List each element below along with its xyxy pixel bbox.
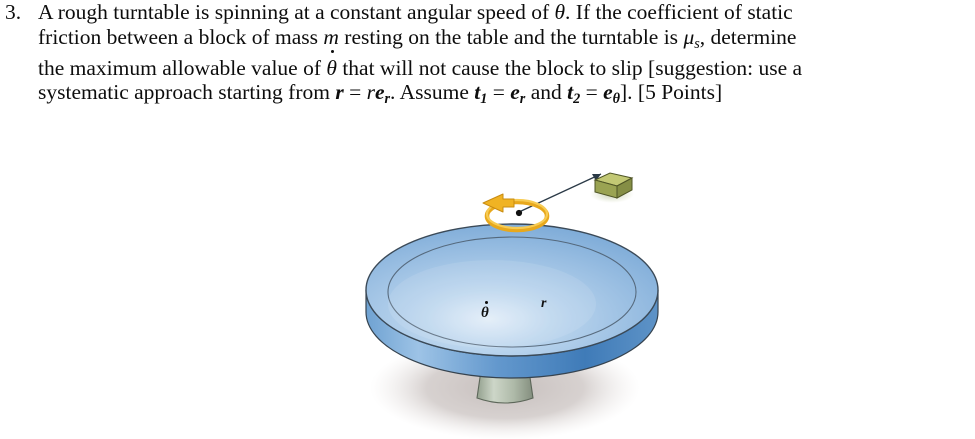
line4-equals-1: =: [344, 80, 367, 104]
problem-line-1: A rough turntable is spinning at a const…: [38, 0, 973, 25]
line4-equals-3: =: [580, 80, 603, 104]
problem-page: 3. A rough turntable is spinning at a co…: [0, 0, 975, 439]
line1-text-a: A rough turntable is spinning at a const…: [38, 0, 554, 24]
problem-number-text: 3.: [5, 0, 21, 24]
overdot-icon-figure: [485, 301, 488, 304]
theta-dot-figure-glyph: θ: [481, 305, 489, 321]
scalar-r: r: [367, 80, 375, 104]
points-label: [5 Points]: [638, 80, 722, 104]
problem-line-2: friction between a block of mass m resti…: [38, 25, 973, 56]
line2-text-a: friction between a block of mass: [38, 25, 323, 49]
radius-label: r: [541, 296, 546, 312]
vector-r-bold: r: [335, 80, 343, 104]
problem-row: 3. A rough turntable is spinning at a co…: [0, 0, 975, 112]
theta-dot-symbol: θ: [326, 56, 337, 81]
turntable-illustration: [0, 118, 975, 439]
line4-text-c: and: [525, 80, 567, 104]
problem-line-4: systematic approach starting from r = re…: [38, 80, 973, 111]
vector-e-theta-subscript: θ: [613, 91, 620, 107]
problem-line-3: the maximum allowable value of θ that wi…: [38, 56, 973, 81]
mu-symbol: μ: [683, 25, 694, 49]
theta-dot-glyph: θ: [326, 56, 337, 80]
line4-text-b: . Assume: [390, 80, 474, 104]
turntable-figure: θ r: [0, 118, 975, 439]
theta-symbol: θ: [554, 0, 565, 24]
unit-vector-e: e: [375, 80, 385, 104]
mass-symbol: m: [323, 25, 339, 49]
theta-dot-figure-symbol: θ: [481, 305, 489, 322]
problem-body: A rough turntable is spinning at a const…: [38, 0, 975, 112]
radius-line: [519, 174, 601, 212]
line2-text-c: , determine: [700, 25, 797, 49]
problem-statement: 3. A rough turntable is spinning at a co…: [0, 0, 975, 112]
line4-text-a: systematic approach starting from: [38, 80, 335, 104]
turntable-disc: [366, 224, 658, 356]
line4-text-d: ].: [620, 80, 638, 104]
line1-text-b: . If the coefficient of static: [565, 0, 793, 24]
line3-text-b: that will not cause the block to slip [s…: [337, 56, 802, 80]
line4-equals-2: =: [487, 80, 510, 104]
vector-e-theta: e: [603, 80, 613, 104]
line3-text-a: the maximum allowable value of: [38, 56, 326, 80]
problem-number: 3.: [0, 0, 38, 25]
angular-speed-label: θ: [481, 305, 489, 322]
vector-e-r: e: [510, 80, 520, 104]
line2-text-b: resting on the table and the turntable i…: [339, 25, 684, 49]
center-dot: [516, 210, 522, 216]
